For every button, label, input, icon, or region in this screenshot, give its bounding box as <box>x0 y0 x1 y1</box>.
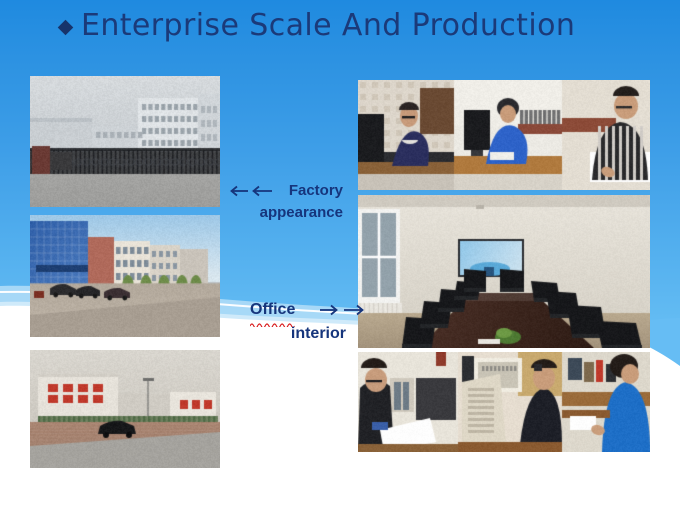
page-title: Enterprise Scale And Production <box>60 8 575 43</box>
office-label-line1-wrap: Office <box>250 298 295 322</box>
factory-gate-photo[interactable] <box>30 76 220 207</box>
double-arrow-right-icon <box>318 302 366 318</box>
slide-canvas: Enterprise Scale And Production Factory … <box>0 0 680 518</box>
diamond-bullet-icon <box>58 20 74 36</box>
title-text: Enterprise Scale And Production <box>81 8 575 43</box>
office-staff-computers-photo[interactable] <box>358 80 650 190</box>
office-workers-desks-photo[interactable] <box>358 352 650 452</box>
spellcheck-underline-icon <box>250 322 295 327</box>
factory-warehouse-sign-photo[interactable] <box>30 350 220 468</box>
office-meeting-room-photo[interactable] <box>358 195 650 348</box>
factory-label-line1: Factory <box>289 182 343 199</box>
factory-label-line2: appearance <box>228 202 343 224</box>
office-label-line1: Office <box>250 301 295 318</box>
factory-street-buildings-photo[interactable] <box>30 215 220 337</box>
factory-appearance-label: Factory appearance <box>228 180 343 224</box>
